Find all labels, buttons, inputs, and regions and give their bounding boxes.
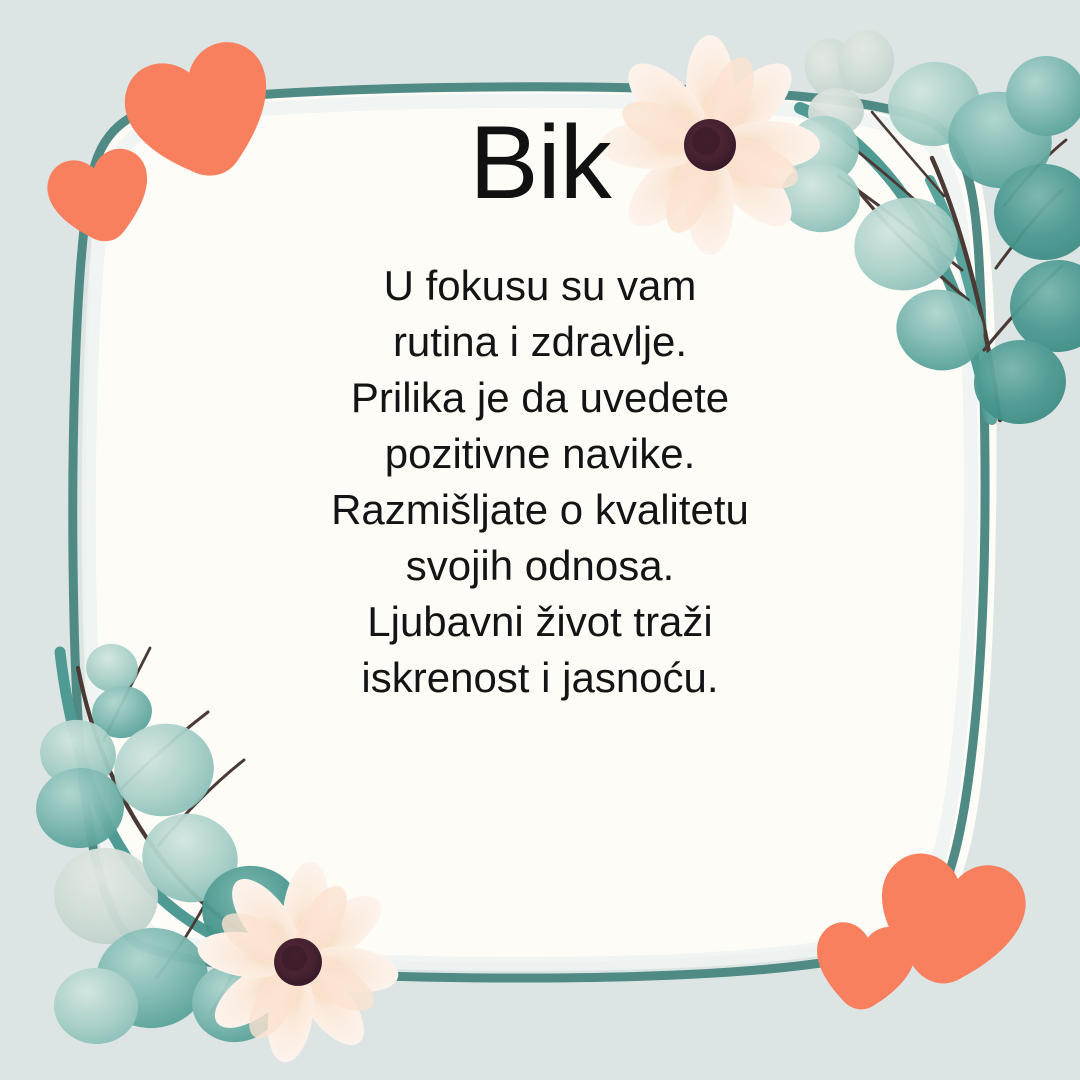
flowers-layer — [0, 0, 1080, 1080]
flower-center-inner — [692, 127, 720, 155]
flower-center-inner — [281, 945, 307, 971]
flower-bottom — [195, 859, 402, 1066]
horoscope-card: Bik U fokusu su vamrutina i zdravlje.Pri… — [0, 0, 1080, 1080]
flower-top — [600, 35, 820, 255]
